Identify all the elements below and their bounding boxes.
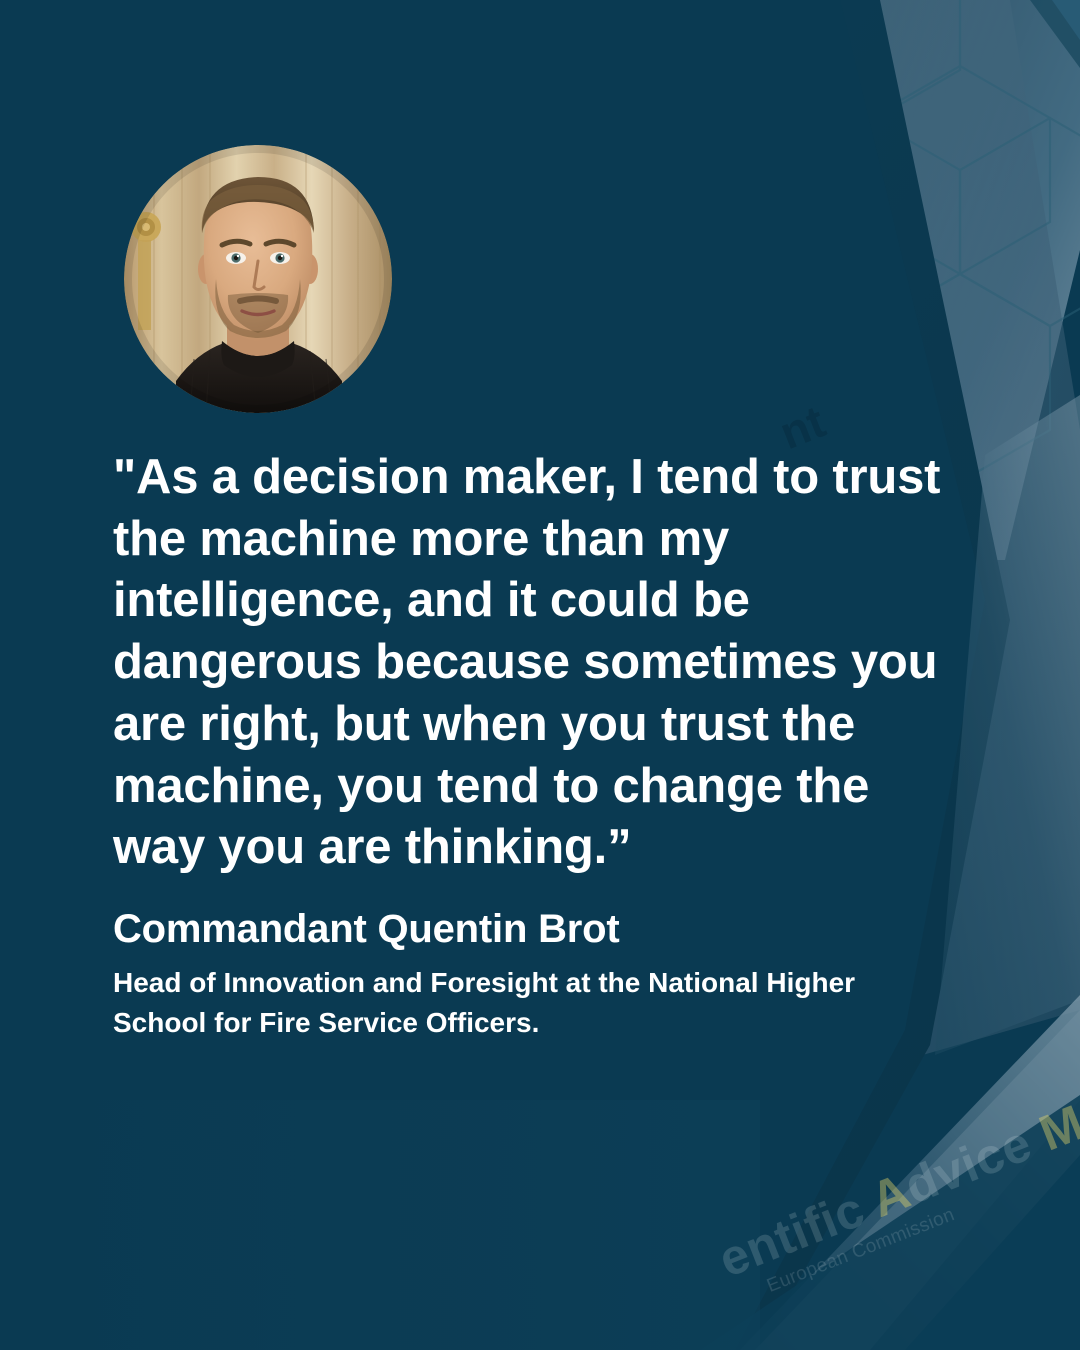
brand-watermark-subtitle: European Commission: [764, 1063, 1080, 1296]
attribution-name: Commandant Quentin Brot: [113, 907, 993, 951]
quote-text: "As a decision maker, I tend to trust th…: [113, 447, 973, 879]
avatar: [124, 145, 392, 413]
avatar-photo: [124, 145, 392, 413]
brand-watermark-mid: dvice: [897, 1110, 1052, 1215]
brand-watermark: entific Advice Mechanism European Commis…: [712, 1011, 1080, 1309]
quote-card: nt: [0, 0, 1080, 1350]
brand-watermark-title: entific Advice Mechanism: [712, 1011, 1080, 1285]
brand-watermark-a: A: [863, 1163, 918, 1229]
brand-watermark-prefix: entific: [711, 1176, 883, 1288]
brand-watermark-m: M: [1032, 1094, 1080, 1162]
attribution-role: Head of Innovation and Foresight at the …: [113, 963, 913, 1043]
brand-watermark-suffix: echanism: [1071, 1008, 1080, 1146]
quote-content: "As a decision maker, I tend to trust th…: [113, 447, 993, 1043]
